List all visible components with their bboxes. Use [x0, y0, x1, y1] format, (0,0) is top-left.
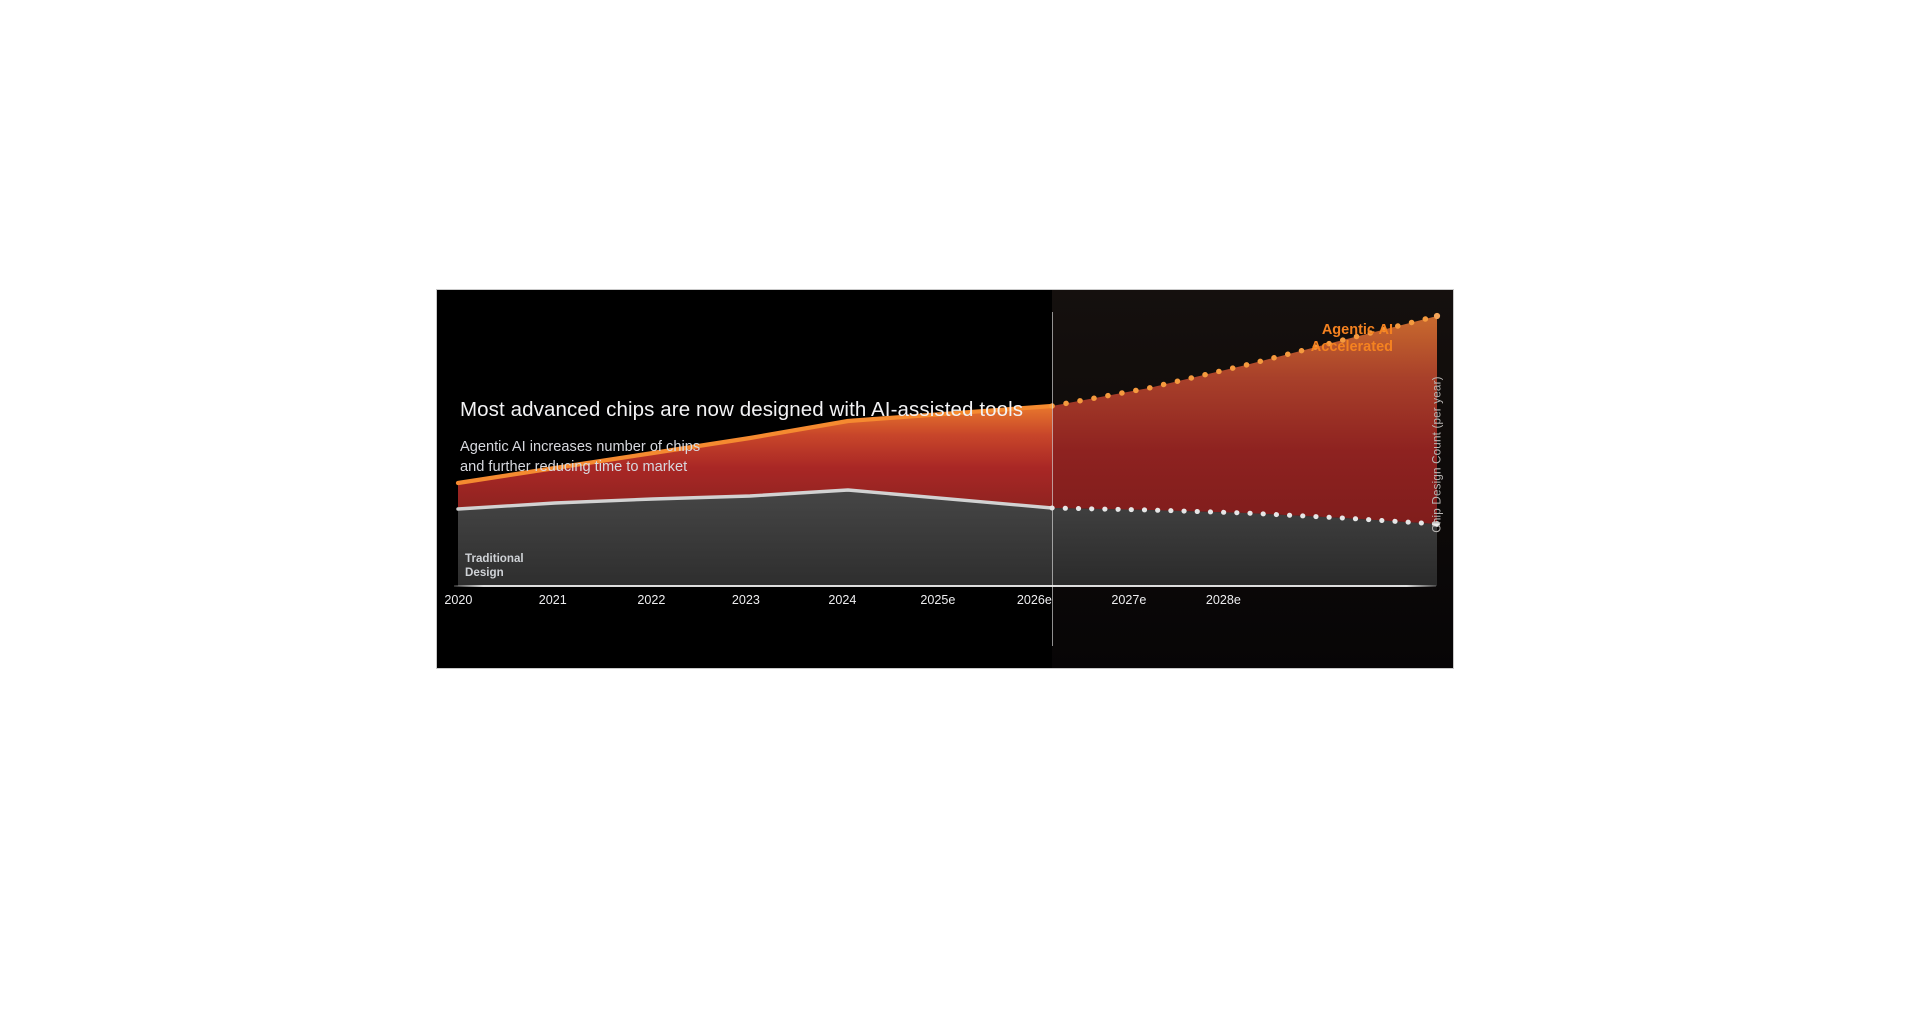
traditional-design-label-line-2: Design: [465, 566, 524, 580]
agentic-endpoint-dot: [1434, 313, 1440, 319]
chart-headline: Most advanced chips are now designed wit…: [460, 398, 1023, 422]
x-axis-tick-labels: 202020212022202320242025e2026e2027e2028e: [437, 593, 1453, 623]
x-axis-tick-2025e: 2025e: [920, 593, 955, 607]
x-axis-tick-2028e: 2028e: [1206, 593, 1241, 607]
agentic-ai-label-line-2: Accelerated: [1311, 339, 1393, 356]
chart-subtitle-line-1: Agentic AI increases number of chips: [460, 439, 700, 455]
y-axis-title-text: Chip Design Count (per year): [1431, 376, 1444, 532]
x-axis-tick-2020: 2020: [444, 593, 472, 607]
agentic-ai-label-line-1: Agentic AI: [1311, 322, 1393, 339]
chart-panel: Most advanced chips are now designed wit…: [437, 290, 1453, 668]
x-axis-tick-2021: 2021: [539, 593, 567, 607]
traditional-design-series-label: Traditional Design: [465, 552, 524, 581]
x-axis-tick-2026e: 2026e: [1017, 593, 1052, 607]
y-axis-title: Chip Design Count (per year): [1429, 354, 1445, 554]
traditional-design-label-line-1: Traditional: [465, 552, 524, 566]
x-axis-tick-2022: 2022: [637, 593, 665, 607]
x-axis-tick-2027e: 2027e: [1111, 593, 1146, 607]
x-axis-tick-2024: 2024: [828, 593, 856, 607]
x-axis-line: [454, 585, 1436, 587]
agentic-ai-series-label: Agentic AI Accelerated: [1311, 322, 1393, 356]
chart-subtitle-line-2: and further reducing time to market: [460, 459, 687, 475]
x-axis-tick-2023: 2023: [732, 593, 760, 607]
